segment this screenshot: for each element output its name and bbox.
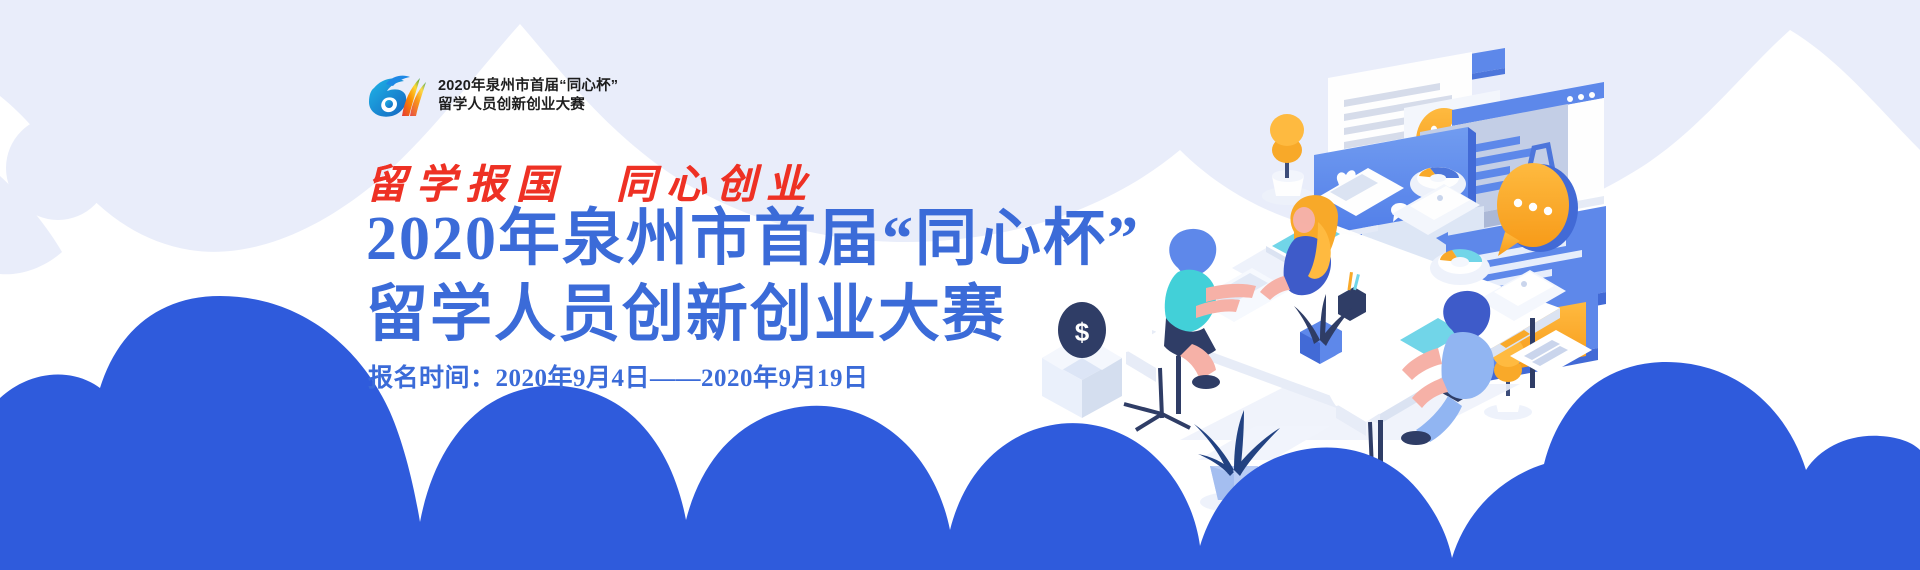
logo-line-1: 2020年泉州市首届“同心杯”: [438, 77, 618, 96]
tongxin-cup-swirl-logo-icon: [366, 72, 428, 120]
logo-line-2: 留学人员创新创业大赛: [438, 96, 618, 115]
headline-line-1: 2020年泉州市首届“同心杯”: [366, 208, 1140, 270]
slogan-text: 留学报国 同心创业: [366, 152, 816, 210]
headline-line-2: 留学人员创新创业大赛: [366, 284, 1006, 346]
event-logo: 2020年泉州市首届“同心杯” 留学人员创新创业大赛: [366, 72, 618, 120]
registration-period: 报名时间：2020年9月4日——2020年9月19日: [368, 358, 869, 394]
promo-banner: 467 255: [0, 0, 1920, 570]
